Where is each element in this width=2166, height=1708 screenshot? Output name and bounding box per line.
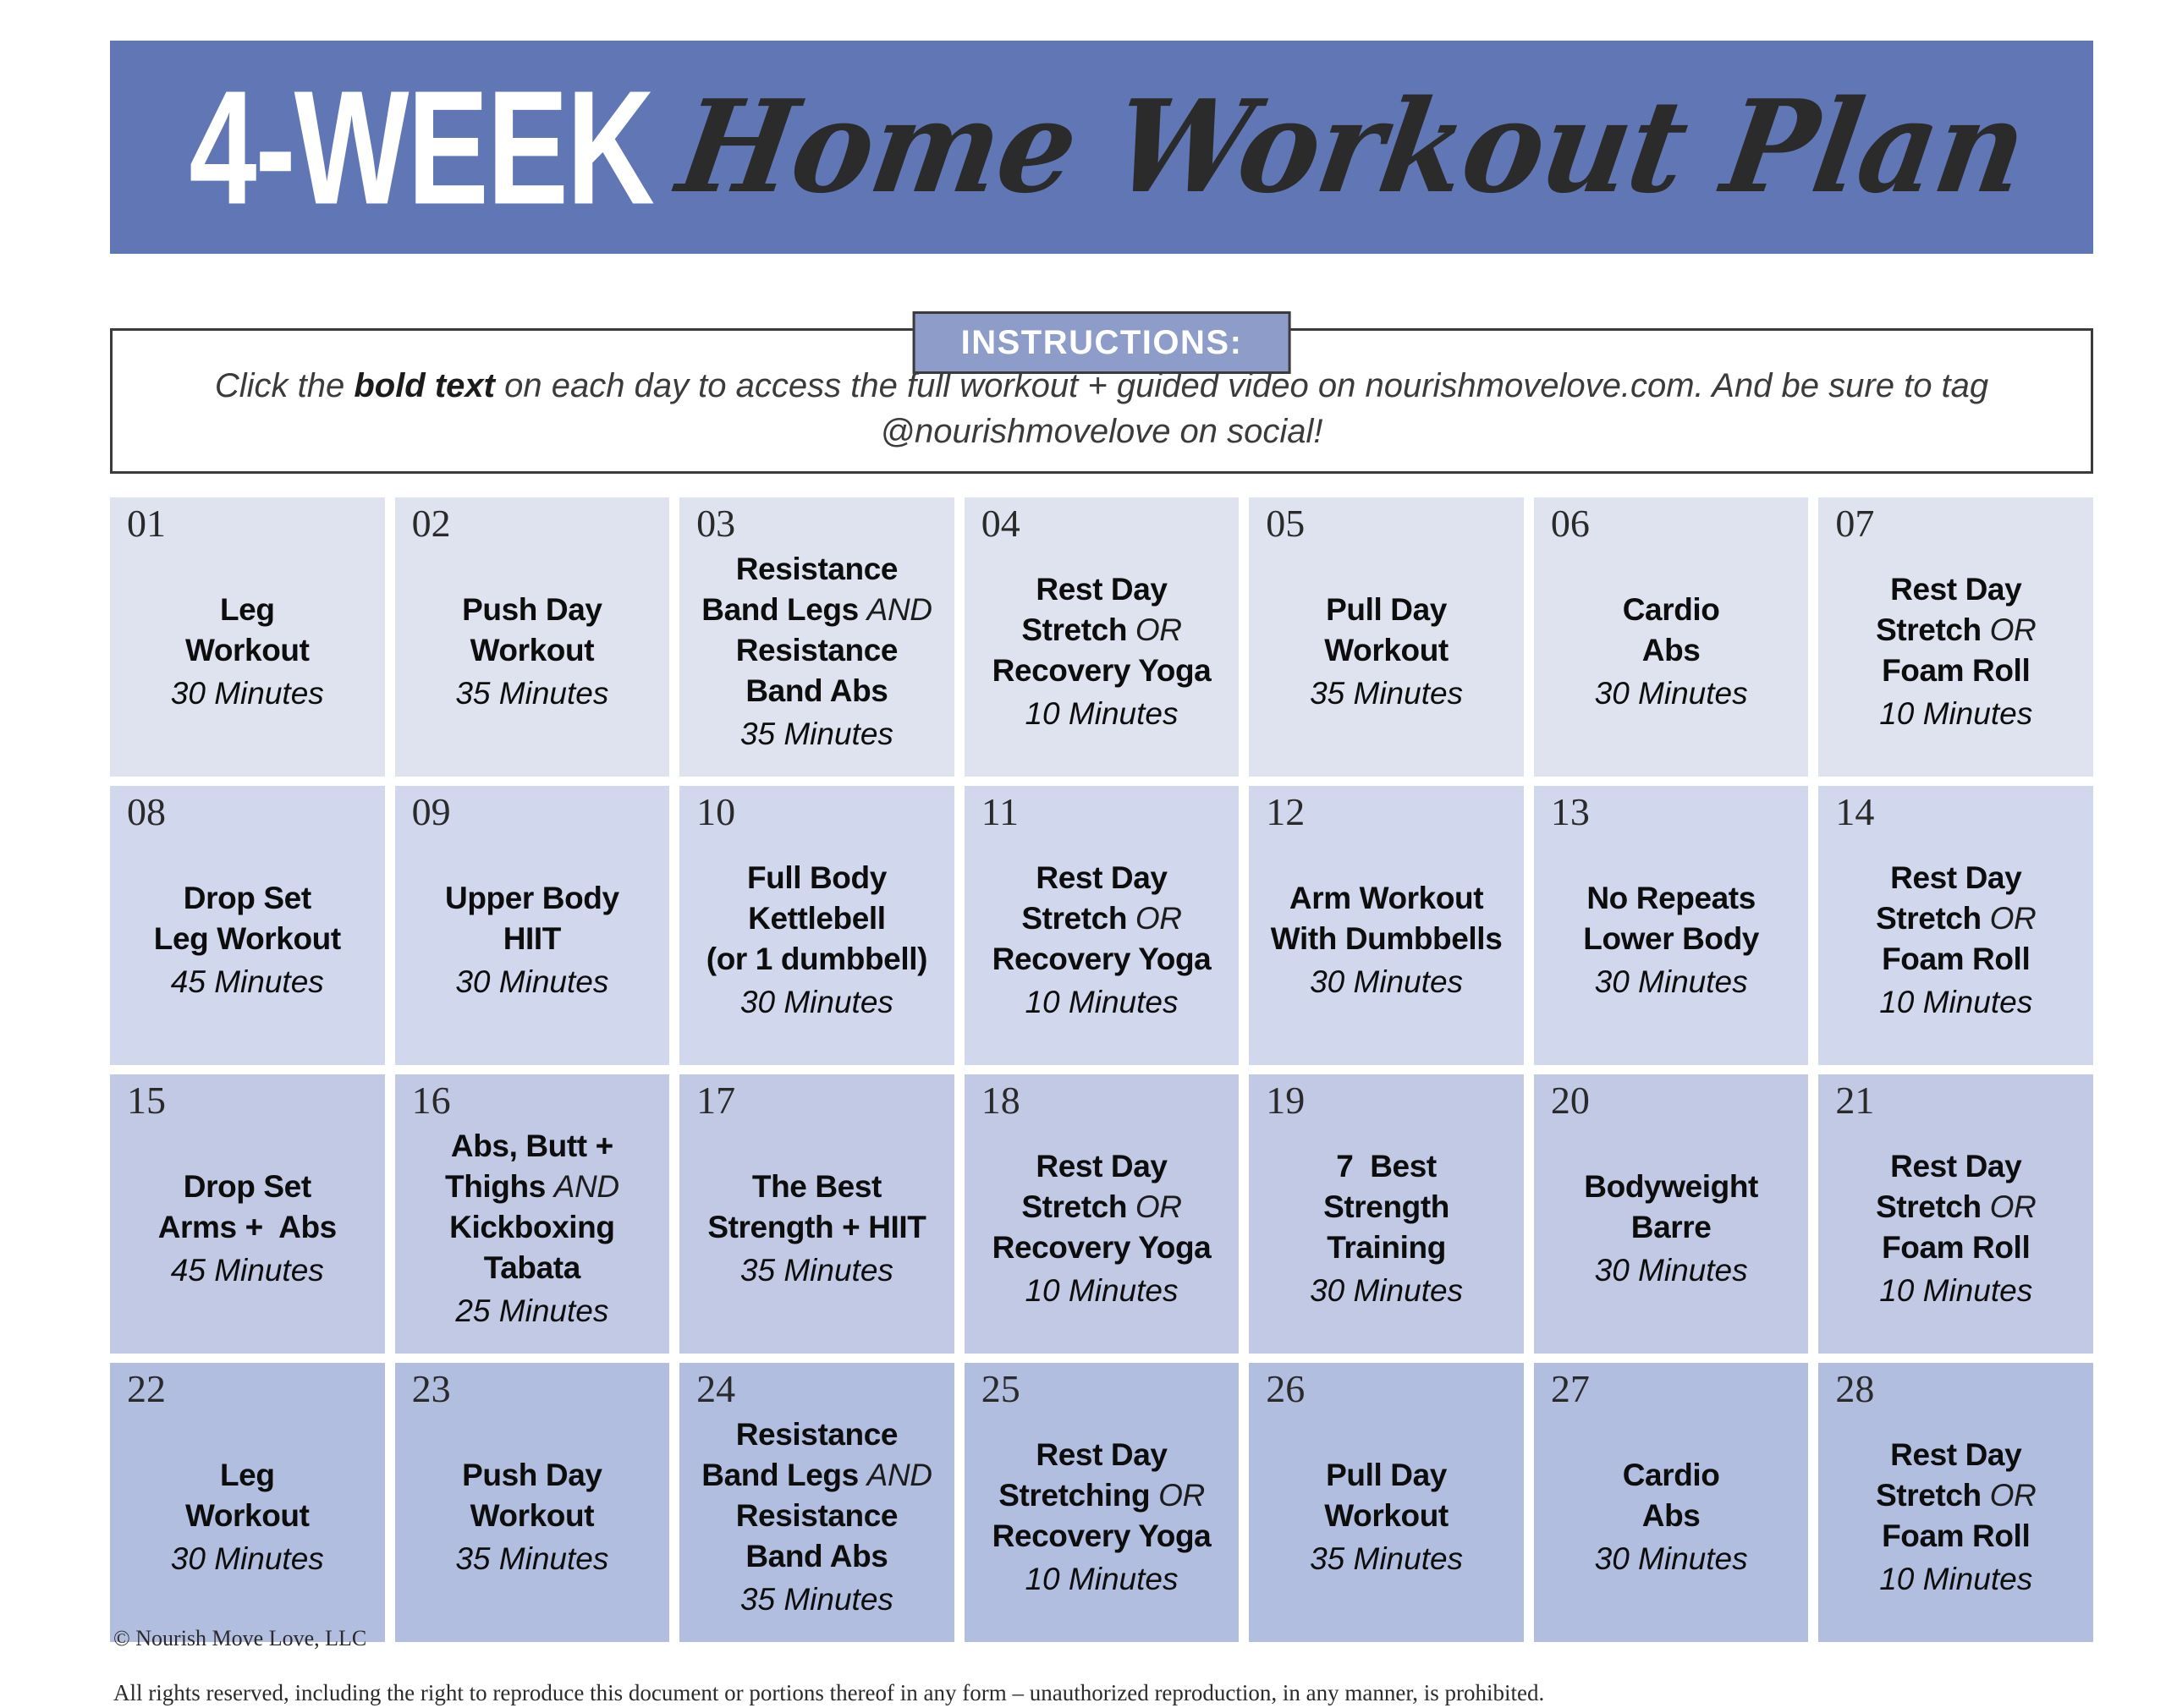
workout-title-link[interactable]: No Repeats Lower Body: [1542, 878, 1800, 959]
calendar-day-cell[interactable]: 27Cardio Abs30 Minutes: [1534, 1363, 1809, 1642]
day-number: 08: [127, 791, 166, 834]
day-cell-body: Cardio Abs30 Minutes: [1542, 1430, 1800, 1580]
workout-title-part: Kickboxing Tabata: [449, 1210, 614, 1285]
workout-title-link[interactable]: Arm Workout With Dumbbells: [1257, 878, 1515, 959]
workout-duration: 35 Minutes: [1257, 673, 1515, 715]
workout-title-link[interactable]: 7 Best Strength Training: [1257, 1146, 1515, 1268]
workout-title-part: Push Day Workout: [462, 1458, 602, 1533]
workout-duration: 30 Minutes: [1542, 673, 1800, 715]
day-cell-body: The Best Strength + HIIT35 Minutes: [688, 1141, 946, 1292]
workout-duration: 30 Minutes: [688, 981, 946, 1024]
workout-duration: 30 Minutes: [1542, 961, 1800, 1003]
workout-title-link[interactable]: Bodyweight Barre: [1542, 1167, 1800, 1248]
workout-title-link[interactable]: Rest Day Stretch OR Recovery Yoga: [973, 1146, 1231, 1268]
day-cell-body: Rest Day Stretch OR Foam Roll10 Minutes: [1827, 1409, 2085, 1601]
workout-title-conjunction: AND: [554, 1169, 619, 1204]
calendar-day-cell[interactable]: 14Rest Day Stretch OR Foam Roll10 Minute…: [1818, 786, 2093, 1065]
workout-title-part: Recovery Yoga: [992, 1230, 1212, 1265]
calendar-day-cell[interactable]: 197 Best Strength Training30 Minutes: [1249, 1074, 1524, 1354]
calendar-day-cell[interactable]: 07Rest Day Stretch OR Foam Roll10 Minute…: [1818, 497, 2093, 777]
workout-title-part: Bodyweight Barre: [1584, 1169, 1758, 1244]
calendar-day-cell[interactable]: 06Cardio Abs30 Minutes: [1534, 497, 1809, 777]
workout-duration: 35 Minutes: [688, 1249, 946, 1292]
workout-duration: 30 Minutes: [404, 961, 662, 1003]
day-cell-body: Rest Day Stretch OR Foam Roll10 Minutes: [1827, 1121, 2085, 1312]
workout-title-part: Cardio Abs: [1623, 1458, 1720, 1533]
calendar-day-cell[interactable]: 11Rest Day Stretch OR Recovery Yoga10 Mi…: [965, 786, 1240, 1065]
workout-title-part: Foam Roll: [1882, 653, 2030, 688]
workout-title-link[interactable]: Leg Workout: [118, 1455, 377, 1536]
calendar-week-4: 22Leg Workout30 Minutes23Push Day Workou…: [110, 1363, 2093, 1642]
workout-title-part: No Repeats Lower Body: [1583, 881, 1759, 956]
calendar-day-cell[interactable]: 18Rest Day Stretch OR Recovery Yoga10 Mi…: [965, 1074, 1240, 1354]
workout-duration: 30 Minutes: [1542, 1538, 1800, 1580]
workout-title-link[interactable]: Rest Day Stretch OR Foam Roll: [1827, 1146, 2085, 1268]
workout-duration: 45 Minutes: [118, 961, 377, 1003]
day-cell-body: Leg Workout30 Minutes: [118, 564, 377, 715]
workout-title-link[interactable]: Push Day Workout: [404, 590, 662, 671]
calendar-day-cell[interactable]: 28Rest Day Stretch OR Foam Roll10 Minute…: [1818, 1363, 2093, 1642]
workout-duration: 10 Minutes: [1827, 1270, 2085, 1312]
title-weeks: 4-WEEK: [189, 66, 653, 228]
day-number: 11: [981, 791, 1019, 834]
workout-title-link[interactable]: Rest Day Stretch OR Foam Roll: [1827, 1435, 2085, 1557]
day-number: 26: [1266, 1368, 1305, 1411]
day-cell-body: Full Body Kettlebell (or 1 dumbbell)30 M…: [688, 832, 946, 1024]
calendar-day-cell[interactable]: 22Leg Workout30 Minutes: [110, 1363, 385, 1642]
workout-title-conjunction: OR: [1135, 1189, 1182, 1224]
calendar-day-cell[interactable]: 05Pull Day Workout35 Minutes: [1249, 497, 1524, 777]
workout-title-conjunction: AND: [867, 1458, 932, 1492]
day-number: 24: [696, 1368, 735, 1411]
workout-title-conjunction: OR: [1135, 612, 1182, 647]
workout-title-link[interactable]: Resistance Band Legs AND Resistance Band…: [688, 549, 946, 711]
day-number: 06: [1551, 503, 1590, 546]
workout-duration: 10 Minutes: [973, 981, 1231, 1024]
day-cell-body: Rest Day Stretching OR Recovery Yoga10 M…: [973, 1409, 1231, 1601]
day-number: 07: [1835, 503, 1874, 546]
day-cell-body: Leg Workout30 Minutes: [118, 1430, 377, 1580]
calendar-day-cell[interactable]: 15Drop Set Arms + Abs45 Minutes: [110, 1074, 385, 1354]
workout-title-part: Push Day Workout: [462, 592, 602, 667]
day-number: 01: [127, 503, 166, 546]
workout-title-part: Foam Roll: [1882, 942, 2030, 976]
instructions-text: Click the bold text on each day to acces…: [113, 363, 2091, 454]
workout-title-part: Drop Set Leg Workout: [154, 881, 341, 956]
workout-duration: 30 Minutes: [1257, 1270, 1515, 1312]
workout-duration: 10 Minutes: [1827, 981, 2085, 1024]
day-number: 13: [1551, 791, 1590, 834]
calendar-day-cell[interactable]: 17The Best Strength + HIIT35 Minutes: [679, 1074, 954, 1354]
day-cell-body: Resistance Band Legs AND Resistance Band…: [688, 1389, 946, 1621]
day-number: 21: [1835, 1079, 1874, 1123]
workout-duration: 30 Minutes: [118, 1538, 377, 1580]
day-cell-body: Rest Day Stretch OR Foam Roll10 Minutes: [1827, 832, 2085, 1024]
calendar-day-cell[interactable]: 20Bodyweight Barre30 Minutes: [1534, 1074, 1809, 1354]
workout-title-part: Leg Workout: [185, 592, 310, 667]
workout-title-link[interactable]: Abs, Butt + Thighs AND Kickboxing Tabata: [404, 1126, 662, 1288]
calendar-day-cell[interactable]: 09Upper Body HIIT30 Minutes: [395, 786, 670, 1065]
workout-title-link[interactable]: Full Body Kettlebell (or 1 dumbbell): [688, 858, 946, 980]
workout-title-link[interactable]: Rest Day Stretch OR Recovery Yoga: [973, 569, 1231, 691]
day-cell-body: Abs, Butt + Thighs AND Kickboxing Tabata…: [404, 1101, 662, 1332]
instructions-bold-text: bold text: [354, 367, 495, 404]
day-number: 14: [1835, 791, 1874, 834]
calendar-week-2: 08Drop Set Leg Workout45 Minutes09Upper …: [110, 786, 2093, 1065]
workout-title-part: Rest Day Stretching: [998, 1437, 1167, 1513]
day-cell-body: Resistance Band Legs AND Resistance Band…: [688, 524, 946, 755]
workout-title-link[interactable]: Pull Day Workout: [1257, 1455, 1515, 1536]
workout-title-part: Pull Day Workout: [1324, 1458, 1449, 1533]
day-cell-body: Upper Body HIIT30 Minutes: [404, 853, 662, 1003]
workout-title-part: Resistance Band Abs: [736, 1498, 898, 1573]
workout-title-part: Recovery Yoga: [992, 653, 1212, 688]
workout-title-link[interactable]: Rest Day Stretch OR Foam Roll: [1827, 569, 2085, 691]
workout-title-part: Resistance Band Abs: [736, 633, 898, 708]
day-cell-body: Push Day Workout35 Minutes: [404, 1430, 662, 1580]
day-number: 28: [1835, 1368, 1874, 1411]
workout-title-part: Drop Set Arms + Abs: [158, 1169, 337, 1244]
header-banner: 4-WEEK Home Workout Plan: [110, 41, 2093, 254]
workout-title-link[interactable]: Push Day Workout: [404, 1455, 662, 1536]
day-cell-body: Drop Set Leg Workout45 Minutes: [118, 853, 377, 1003]
workout-title-conjunction: OR: [1990, 1189, 2037, 1224]
workout-duration: 30 Minutes: [1542, 1249, 1800, 1292]
workout-title-part: Foam Roll: [1882, 1230, 2030, 1265]
calendar-day-cell[interactable]: 02Push Day Workout35 Minutes: [395, 497, 670, 777]
workout-title-conjunction: AND: [867, 592, 932, 627]
day-number: 27: [1551, 1368, 1590, 1411]
calendar-day-cell[interactable]: 26Pull Day Workout35 Minutes: [1249, 1363, 1524, 1642]
workout-duration: 35 Minutes: [1257, 1538, 1515, 1580]
day-number: 02: [412, 503, 451, 546]
day-cell-body: Bodyweight Barre30 Minutes: [1542, 1141, 1800, 1292]
workout-title-part: Recovery Yoga: [992, 1519, 1212, 1553]
calendar-week-1: 01Leg Workout30 Minutes02Push Day Workou…: [110, 497, 2093, 777]
day-cell-body: No Repeats Lower Body30 Minutes: [1542, 853, 1800, 1003]
workout-duration: 25 Minutes: [404, 1290, 662, 1332]
workout-duration: 10 Minutes: [973, 1270, 1231, 1312]
calendar-day-cell[interactable]: 25Rest Day Stretching OR Recovery Yoga10…: [965, 1363, 1240, 1642]
workout-duration: 10 Minutes: [1827, 1558, 2085, 1601]
day-cell-body: 7 Best Strength Training30 Minutes: [1257, 1121, 1515, 1312]
day-number: 18: [981, 1079, 1020, 1123]
instructions-badge-label: INSTRUCTIONS:: [961, 324, 1243, 361]
workout-duration: 35 Minutes: [404, 1538, 662, 1580]
instructions-badge: INSTRUCTIONS:: [913, 311, 1291, 374]
calendar-day-cell[interactable]: 03Resistance Band Legs AND Resistance Ba…: [679, 497, 954, 777]
workout-plan-page: 4-WEEK Home Workout Plan Click the bold …: [0, 0, 2166, 1673]
day-cell-body: Rest Day Stretch OR Foam Roll10 Minutes: [1827, 544, 2085, 735]
workout-title-part: The Best Strength + HIIT: [707, 1169, 926, 1244]
day-number: 25: [981, 1368, 1020, 1411]
workout-duration: 35 Minutes: [688, 713, 946, 755]
workout-duration: 45 Minutes: [118, 1249, 377, 1292]
workout-title-link[interactable]: Upper Body HIIT: [404, 878, 662, 959]
calendar-day-cell[interactable]: 13No Repeats Lower Body30 Minutes: [1534, 786, 1809, 1065]
footer: © Nourish Move Love, LLC All rights rese…: [113, 1624, 2093, 1708]
workout-title-part: Arm Workout With Dumbbells: [1271, 881, 1503, 956]
calendar-day-cell[interactable]: 23Push Day Workout35 Minutes: [395, 1363, 670, 1642]
workout-title-link[interactable]: Leg Workout: [118, 590, 377, 671]
workout-title-link[interactable]: Rest Day Stretching OR Recovery Yoga: [973, 1435, 1231, 1557]
workout-title-link[interactable]: Cardio Abs: [1542, 590, 1800, 671]
day-cell-body: Rest Day Stretch OR Recovery Yoga10 Minu…: [973, 544, 1231, 735]
workout-title-part: Cardio Abs: [1623, 592, 1720, 667]
calendar-day-cell[interactable]: 01Leg Workout30 Minutes: [110, 497, 385, 777]
day-number: 16: [412, 1079, 451, 1123]
footer-copyright: © Nourish Move Love, LLC: [113, 1624, 2093, 1653]
day-number: 20: [1551, 1079, 1590, 1123]
workout-title-conjunction: OR: [1990, 901, 2037, 936]
workout-title-conjunction: OR: [1990, 612, 2037, 647]
workout-title-link[interactable]: Pull Day Workout: [1257, 590, 1515, 671]
day-number: 05: [1266, 503, 1305, 546]
workout-title-part: Leg Workout: [185, 1458, 310, 1533]
day-cell-body: Push Day Workout35 Minutes: [404, 564, 662, 715]
workout-title-conjunction: OR: [1135, 901, 1182, 936]
footer-rights-notice: All rights reserved, including the right…: [113, 1678, 2093, 1708]
day-number: 10: [696, 791, 735, 834]
day-cell-body: Drop Set Arms + Abs45 Minutes: [118, 1141, 377, 1292]
workout-title-link[interactable]: Rest Day Stretch OR Foam Roll: [1827, 858, 2085, 980]
workout-duration: 35 Minutes: [688, 1579, 946, 1621]
workout-duration: 10 Minutes: [973, 693, 1231, 735]
day-number: 22: [127, 1368, 166, 1411]
workout-title-link[interactable]: Resistance Band Legs AND Resistance Band…: [688, 1414, 946, 1577]
day-cell-body: Pull Day Workout35 Minutes: [1257, 1430, 1515, 1580]
workout-title-link[interactable]: Rest Day Stretch OR Recovery Yoga: [973, 858, 1231, 980]
workout-title-link[interactable]: Drop Set Leg Workout: [118, 878, 377, 959]
calendar-day-cell[interactable]: 04Rest Day Stretch OR Recovery Yoga10 Mi…: [965, 497, 1240, 777]
day-number: 09: [412, 791, 451, 834]
day-number: 15: [127, 1079, 166, 1123]
workout-title-part: 7 Best Strength Training: [1323, 1149, 1449, 1265]
workout-duration: 30 Minutes: [118, 673, 377, 715]
day-cell-body: Cardio Abs30 Minutes: [1542, 564, 1800, 715]
day-number: 04: [981, 503, 1020, 546]
calendar-day-cell[interactable]: 08Drop Set Leg Workout45 Minutes: [110, 786, 385, 1065]
workout-title-conjunction: OR: [1158, 1478, 1205, 1513]
instructions-section: Click the bold text on each day to acces…: [110, 311, 2093, 474]
workout-title-link[interactable]: The Best Strength + HIIT: [688, 1167, 946, 1248]
workout-duration: 10 Minutes: [1827, 693, 2085, 735]
day-cell-body: Arm Workout With Dumbbells30 Minutes: [1257, 853, 1515, 1003]
workout-title-part: Upper Body HIIT: [445, 881, 619, 956]
day-cell-body: Pull Day Workout35 Minutes: [1257, 564, 1515, 715]
calendar-day-cell[interactable]: 10Full Body Kettlebell (or 1 dumbbell)30…: [679, 786, 954, 1065]
workout-title-conjunction: OR: [1990, 1478, 2037, 1513]
calendar-day-cell[interactable]: 16Abs, Butt + Thighs AND Kickboxing Taba…: [395, 1074, 670, 1354]
calendar-week-3: 15Drop Set Arms + Abs45 Minutes16Abs, Bu…: [110, 1074, 2093, 1354]
workout-duration: 10 Minutes: [973, 1558, 1231, 1601]
calendar-day-cell[interactable]: 24Resistance Band Legs AND Resistance Ba…: [679, 1363, 954, 1642]
workout-title-link[interactable]: Drop Set Arms + Abs: [118, 1167, 377, 1248]
day-cell-body: Rest Day Stretch OR Recovery Yoga10 Minu…: [973, 832, 1231, 1024]
workout-title-part: Full Body Kettlebell (or 1 dumbbell): [706, 860, 927, 976]
workout-title-part: Recovery Yoga: [992, 942, 1212, 976]
workout-title-part: Pull Day Workout: [1324, 592, 1449, 667]
workout-title-link[interactable]: Cardio Abs: [1542, 1455, 1800, 1536]
calendar-day-cell[interactable]: 12Arm Workout With Dumbbells30 Minutes: [1249, 786, 1524, 1065]
title-script: Home Workout Plan: [671, 84, 2034, 211]
workout-title-part: Foam Roll: [1882, 1519, 2030, 1553]
day-cell-body: Rest Day Stretch OR Recovery Yoga10 Minu…: [973, 1121, 1231, 1312]
calendar-grid: 01Leg Workout30 Minutes02Push Day Workou…: [110, 497, 2093, 1642]
day-number: 23: [412, 1368, 451, 1411]
workout-duration: 35 Minutes: [404, 673, 662, 715]
calendar-day-cell[interactable]: 21Rest Day Stretch OR Foam Roll10 Minute…: [1818, 1074, 2093, 1354]
day-number: 17: [696, 1079, 735, 1123]
day-number: 03: [696, 503, 735, 546]
day-number: 19: [1266, 1079, 1305, 1123]
instructions-line1-pre: Click the: [215, 367, 355, 404]
workout-duration: 30 Minutes: [1257, 961, 1515, 1003]
day-number: 12: [1266, 791, 1305, 834]
